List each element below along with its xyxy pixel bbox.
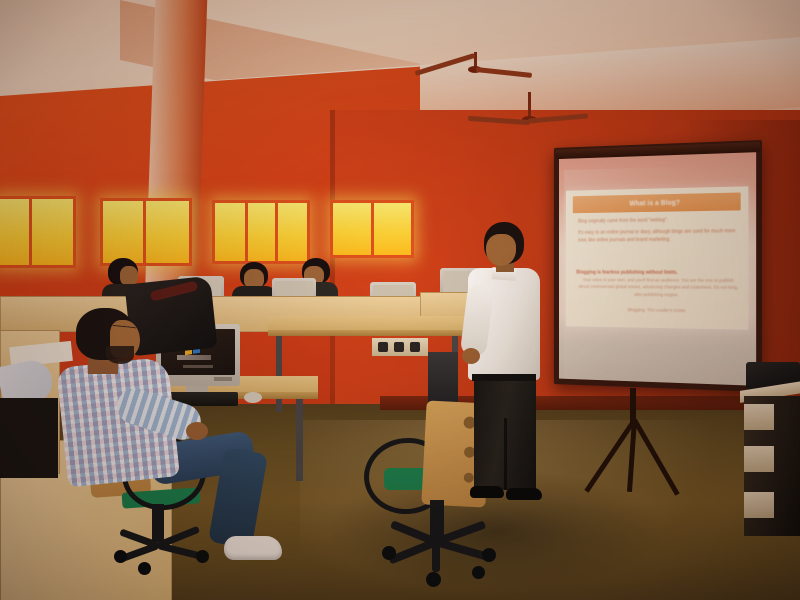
vignette (0, 0, 800, 600)
classroom-photo: What is a Blog? Blog originally came fro… (0, 0, 800, 600)
